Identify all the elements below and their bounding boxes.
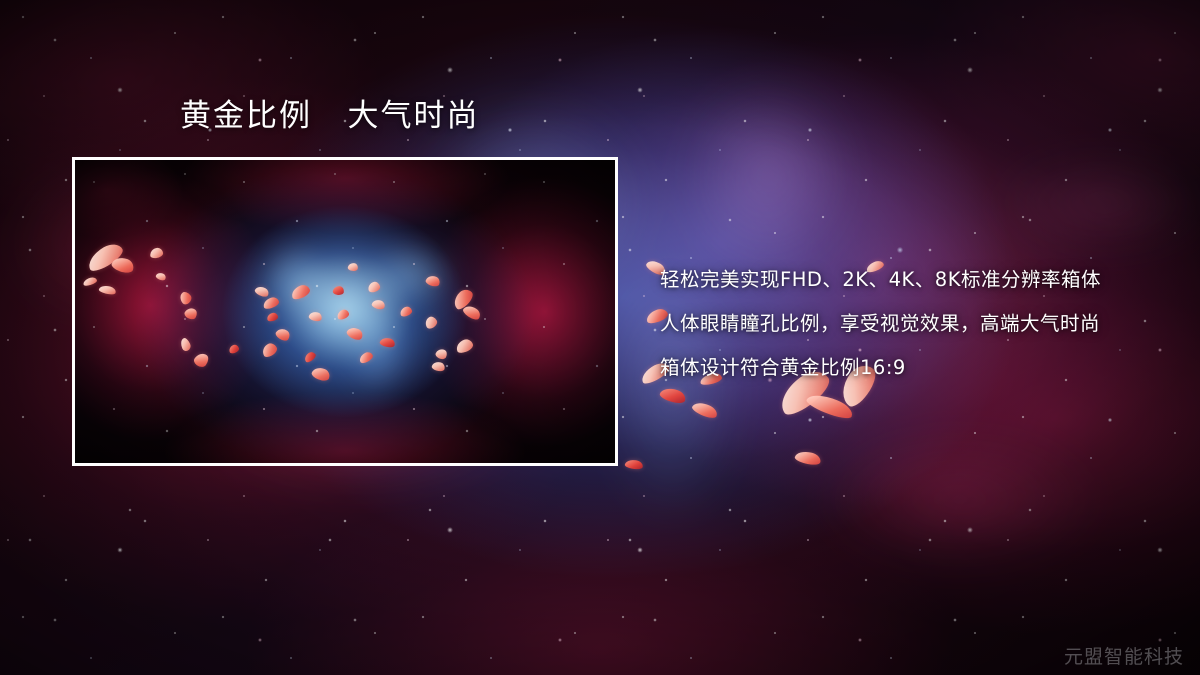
petal-fr-10 bbox=[192, 351, 211, 370]
petal-bg-8 bbox=[794, 449, 822, 467]
petal-fr-2 bbox=[110, 255, 135, 276]
petal-fr-9 bbox=[179, 337, 193, 353]
petal-fr-19 bbox=[310, 365, 331, 383]
framed-petal-group bbox=[75, 160, 615, 463]
petal-fr-32 bbox=[461, 303, 482, 322]
petal-fr-23 bbox=[367, 281, 381, 294]
petal-fr-6 bbox=[98, 284, 116, 296]
petal-fr-1 bbox=[84, 240, 126, 275]
body-text-block: 轻松完美实现FHD、2K、4K、8K标准分辨率箱体 人体眼睛瞳孔比例，享受视觉效… bbox=[660, 258, 1180, 390]
petal-fr-25 bbox=[358, 350, 375, 364]
petal-fr-7 bbox=[177, 290, 193, 306]
slide-canvas: 黄金比例 大气时尚 轻松完美实现FHD、2K、4K、8K标准分辨率箱体 人体眼睛… bbox=[0, 0, 1200, 675]
petal-fr-15 bbox=[260, 341, 279, 359]
petal-fr-20 bbox=[332, 285, 344, 295]
petal-bg-4 bbox=[691, 399, 720, 421]
petal-fr-26 bbox=[379, 336, 396, 348]
petal-fr-21 bbox=[336, 308, 350, 321]
petal-fr-35 bbox=[347, 262, 358, 272]
petal-fr-13 bbox=[266, 312, 278, 322]
petal-fr-22 bbox=[345, 325, 364, 342]
petal-bg-6 bbox=[805, 390, 855, 423]
petal-fr-30 bbox=[434, 347, 448, 361]
page-title: 黄金比例 大气时尚 bbox=[180, 101, 480, 132]
petal-fr-34 bbox=[431, 360, 446, 372]
petal-bg-12 bbox=[624, 459, 643, 471]
petal-fr-17 bbox=[308, 310, 323, 322]
petal-fr-18 bbox=[303, 350, 317, 363]
petal-fr-12 bbox=[254, 284, 271, 298]
petal-fr-28 bbox=[425, 274, 442, 288]
body-line-3: 箱体设计符合黄金比例16:9 bbox=[660, 346, 1180, 390]
petal-fr-3 bbox=[149, 247, 163, 259]
petal-fr-11 bbox=[262, 296, 280, 310]
petal-fr-5 bbox=[82, 276, 97, 287]
watermark: 元盟智能科技 bbox=[1064, 648, 1184, 667]
petal-fr-14 bbox=[274, 326, 292, 343]
petal-fr-16 bbox=[289, 283, 311, 301]
petal-fr-33 bbox=[454, 337, 474, 354]
petal-fr-8 bbox=[183, 306, 199, 322]
petal-fr-27 bbox=[399, 305, 413, 317]
petal-fr-24 bbox=[371, 298, 386, 311]
petal-fr-4 bbox=[155, 271, 167, 281]
body-line-2: 人体眼睛瞳孔比例，享受视觉效果，高端大气时尚 bbox=[660, 302, 1180, 346]
body-line-1: 轻松完美实现FHD、2K、4K、8K标准分辨率箱体 bbox=[660, 258, 1180, 302]
petal-fr-31 bbox=[450, 286, 476, 311]
petal-fr-29 bbox=[423, 315, 439, 331]
petal-fr-36 bbox=[228, 344, 240, 355]
